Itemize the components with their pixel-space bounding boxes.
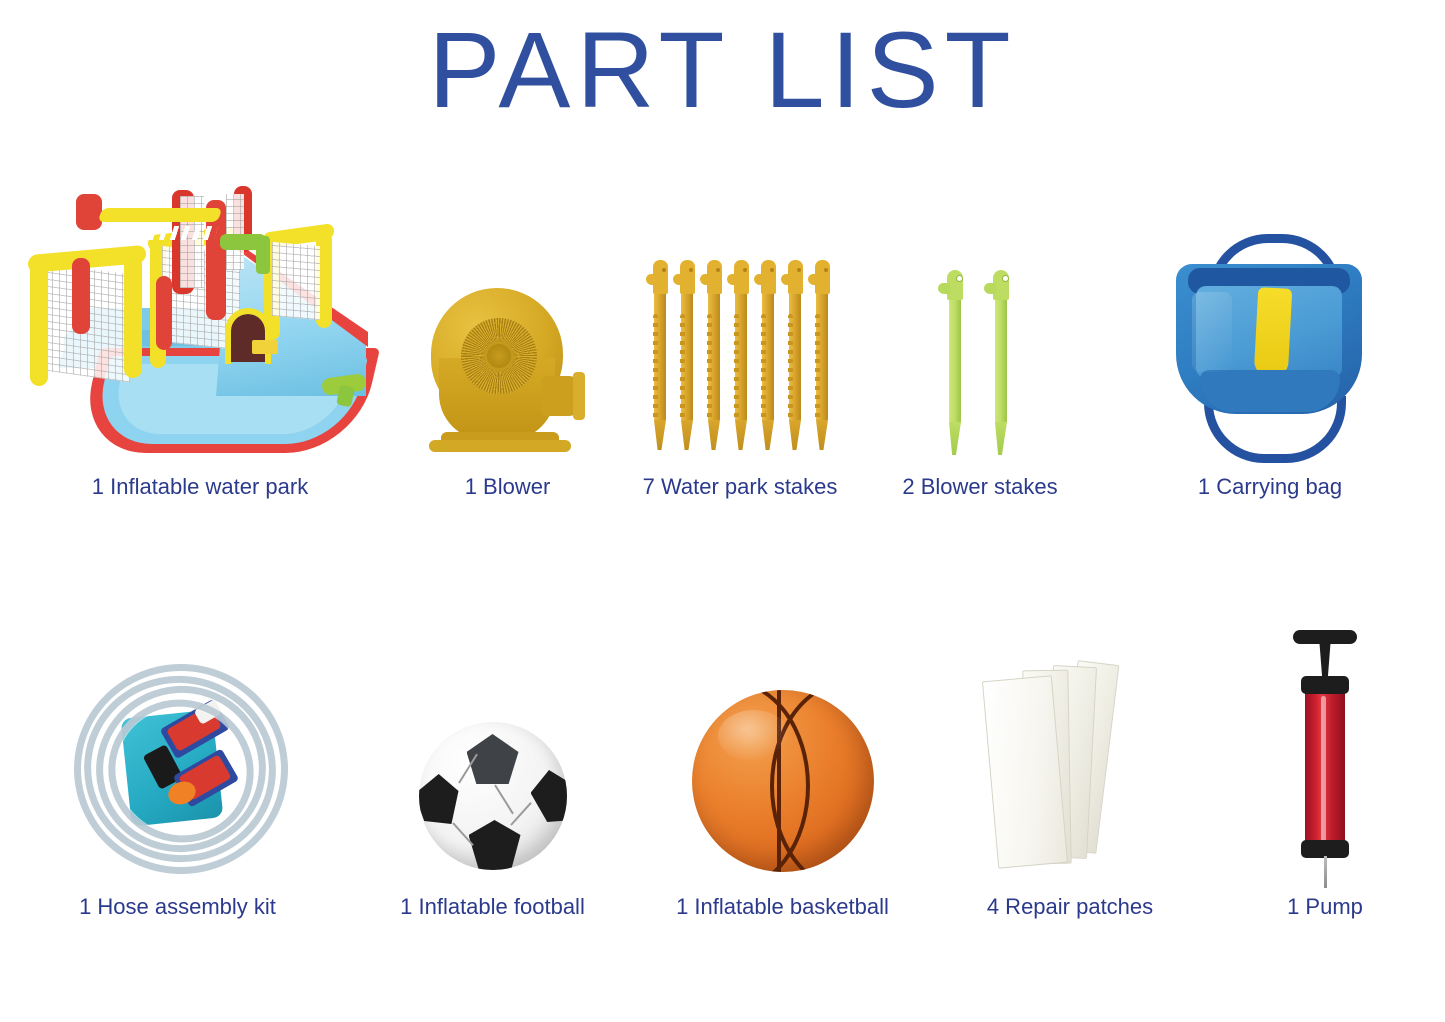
carrying-bag-image: [1170, 230, 1370, 460]
part-caption: 1 Carrying bag: [1198, 474, 1342, 500]
inflatable-football-image: [413, 716, 573, 876]
repair-patches-image: [980, 656, 1160, 876]
parts-row-1: 1 Inflatable water park 1 Blower: [0, 150, 1445, 500]
part-caption: 1 Inflatable water park: [92, 474, 308, 500]
part-caption: 1 Pump: [1287, 894, 1363, 920]
part-item-inflatable-basketball[interactable]: 1 Inflatable basketball: [630, 590, 935, 920]
part-caption: 2 Blower stakes: [902, 474, 1057, 500]
part-caption: 4 Repair patches: [987, 894, 1153, 920]
part-item-carrying-bag[interactable]: 1 Carrying bag: [1095, 150, 1445, 500]
part-item-pump[interactable]: 1 Pump: [1205, 590, 1445, 920]
inflatable-basketball-image: [688, 686, 878, 876]
part-item-repair-patches[interactable]: 4 Repair patches: [935, 590, 1205, 920]
inflatable-water-park-image: [20, 180, 380, 460]
part-caption: 1 Inflatable basketball: [676, 894, 889, 920]
blower-image: [423, 280, 593, 460]
part-caption: 7 Water park stakes: [643, 474, 838, 500]
part-list-page: PART LIST: [0, 0, 1445, 1022]
water-park-stakes-image: [645, 260, 835, 460]
part-caption: 1 Hose assembly kit: [79, 894, 276, 920]
part-item-hose-assembly-kit[interactable]: 1 Hose assembly kit: [0, 590, 355, 920]
part-caption: 1 Inflatable football: [400, 894, 585, 920]
part-item-blower[interactable]: 1 Blower: [400, 150, 615, 500]
blower-stakes-image: [915, 270, 1045, 460]
part-item-blower-stakes[interactable]: 2 Blower stakes: [865, 150, 1095, 500]
part-caption: 1 Blower: [465, 474, 551, 500]
parts-row-2: 1 Hose assembly kit 1 Inflatable footbal…: [0, 590, 1445, 920]
part-item-water-park-stakes[interactable]: 7 Water park stakes: [615, 150, 865, 500]
part-item-inflatable-football[interactable]: 1 Inflatable football: [355, 590, 630, 920]
hose-assembly-kit-image: [68, 656, 288, 876]
part-item-inflatable-water-park[interactable]: 1 Inflatable water park: [0, 150, 400, 500]
pump-image: [1265, 626, 1385, 876]
page-title: PART LIST: [0, 16, 1445, 124]
